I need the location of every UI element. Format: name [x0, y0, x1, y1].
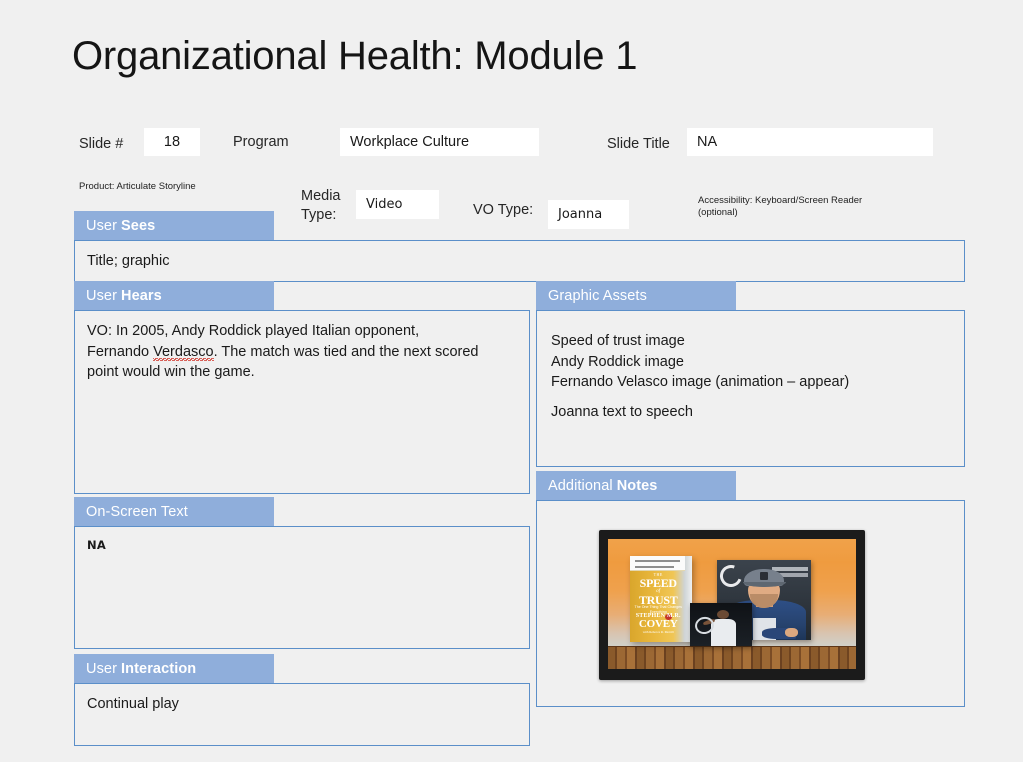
section-header-on-screen-text-thin: On-Screen Text: [86, 504, 188, 520]
section-body-user-hears[interactable]: VO: In 2005, Andy Roddick played Italian…: [74, 310, 530, 494]
user-interaction-text: Continual play: [87, 694, 517, 715]
section-header-user-interaction-thin: User: [86, 661, 117, 677]
book-title-block: THE SPEED of TRUST: [633, 573, 684, 606]
vo-type-input[interactable]: Joanna: [548, 200, 629, 229]
section-header-graphic-assets-thin: Graphic Assets: [548, 288, 647, 304]
program-input[interactable]: Workplace Culture: [340, 128, 539, 156]
backdrop-text-block: [779, 573, 807, 576]
page-title: Organizational Health: Module 1: [72, 34, 637, 79]
section-header-on-screen-text: On-Screen Text: [74, 497, 274, 526]
user-sees-text: Title; graphic: [87, 251, 952, 272]
slide-number-label: Slide #: [79, 136, 123, 153]
slide-title-label: Slide Title: [607, 136, 670, 153]
wood-floor-graphic: [608, 646, 856, 669]
accessibility-note-line2: (optional): [698, 207, 738, 219]
section-header-graphic-assets: Graphic Assets: [536, 281, 736, 310]
user-hears-line-2-suffix: . The match was tied and the next scored: [214, 344, 479, 360]
book-author-block: STEPHEN M.R. COVEY with Rebecca R. Merri…: [633, 613, 684, 635]
user-hears-misspelled-word: Verdasco: [153, 344, 213, 361]
section-body-graphic-assets[interactable]: Speed of trust image Andy Roddick image …: [536, 310, 965, 467]
additional-notes-image-canvas: THE SPEED of TRUST The One Thing That Ch…: [608, 539, 856, 669]
user-hears-line-2-prefix: Fernando: [87, 344, 153, 360]
program-label: Program: [233, 134, 289, 151]
section-header-user-sees: User Sees: [74, 211, 274, 240]
graphic-asset-item: Fernando Velasco image (animation – appe…: [551, 372, 952, 393]
section-body-on-screen-text[interactable]: NA: [74, 526, 530, 649]
media-type-input[interactable]: Video: [356, 190, 439, 219]
graphic-asset-item: Joanna text to speech: [551, 402, 952, 423]
tennis-action-photo: [690, 603, 752, 646]
additional-notes-image[interactable]: THE SPEED of TRUST The One Thing That Ch…: [599, 530, 865, 680]
user-hears-line-1: VO: In 2005, Andy Roddick played Italian…: [87, 321, 517, 342]
media-type-label-line2: Type:: [301, 206, 336, 224]
accessibility-note-line1: Accessibility: Keyboard/Screen Reader: [698, 195, 862, 207]
hand-shape: [785, 628, 798, 638]
backdrop-text-block: [772, 567, 808, 571]
user-hears-line-2: Fernando Verdasco. The match was tied an…: [87, 342, 517, 363]
speed-of-trust-book-image: THE SPEED of TRUST The One Thing That Ch…: [630, 556, 692, 642]
book-author-last: COVEY: [633, 619, 684, 631]
graphic-asset-item: Speed of trust image: [551, 331, 952, 352]
slide-canvas: Organizational Health: Module 1 Slide # …: [0, 0, 1023, 762]
user-hears-line-3: point would win the game.: [87, 362, 517, 383]
book-top-band: [630, 556, 685, 572]
slide-number-input[interactable]: 18: [144, 128, 200, 156]
section-header-user-sees-bold: Sees: [121, 218, 155, 234]
book-title-speed: SPEED: [633, 577, 684, 589]
section-header-user-hears-thin: User: [86, 288, 117, 304]
vo-type-label: VO Type:: [473, 202, 533, 219]
section-body-additional-notes[interactable]: THE SPEED of TRUST The One Thing That Ch…: [536, 500, 965, 707]
section-header-additional-notes-thin: Additional: [548, 478, 613, 494]
section-header-user-interaction: User Interaction: [74, 654, 274, 683]
media-type-label-line1: Media: [301, 187, 341, 205]
section-body-user-interaction[interactable]: Continual play: [74, 683, 530, 746]
book-author-sub: with Rebecca R. Merrill: [633, 631, 684, 634]
cap-logo-icon: [760, 572, 768, 580]
section-body-user-sees[interactable]: Title; graphic: [74, 240, 965, 282]
on-screen-text-value: NA: [87, 537, 517, 553]
section-header-additional-notes-bold: Notes: [617, 478, 658, 494]
player-body-shape: [711, 619, 736, 646]
section-header-user-sees-thin: User: [86, 218, 117, 234]
section-header-additional-notes: Additional Notes: [536, 471, 736, 500]
product-note: Product: Articulate Storyline: [79, 181, 196, 193]
section-header-user-interaction-bold: Interaction: [121, 661, 196, 677]
section-header-user-hears-bold: Hears: [121, 288, 162, 304]
slide-title-input[interactable]: NA: [687, 128, 933, 156]
graphic-asset-item: Andy Roddick image: [551, 352, 952, 373]
section-header-user-hears: User Hears: [74, 281, 274, 310]
